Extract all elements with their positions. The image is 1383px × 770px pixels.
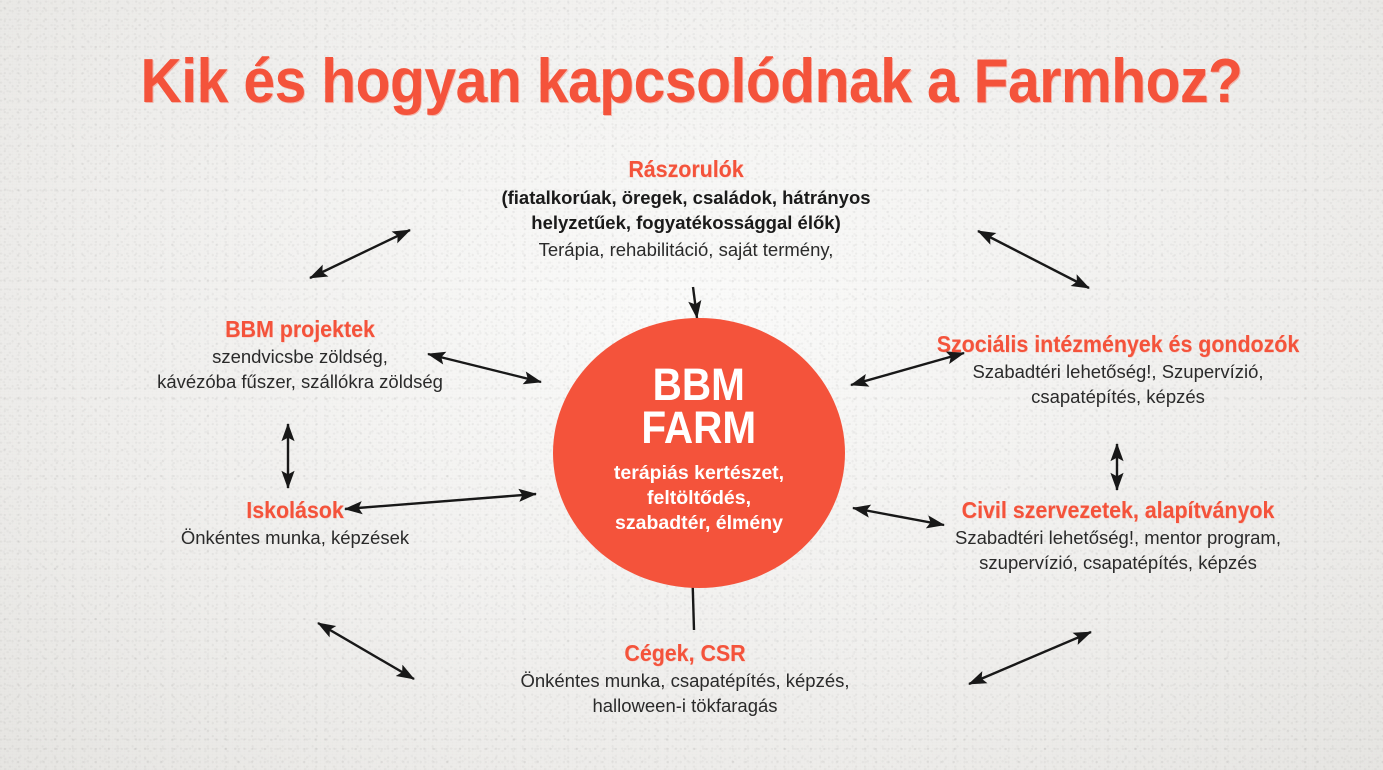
slide-canvas: Kik és hogyan kapcsolódnak a Farmhoz? BB…: [0, 0, 1383, 770]
raszorulok-to-farm: [693, 287, 697, 318]
center-node-description: terápiás kertészet, feltöltődés, szabadt…: [614, 461, 784, 536]
node-civil-szervezetek-heading: Civil szervezetek, alapítványok: [918, 497, 1318, 524]
node-civil-szervezetek-body: Szabadtéri lehetőség!, mentor program, s…: [903, 526, 1333, 576]
page-title: Kik és hogyan kapcsolódnak a Farmhoz?: [55, 46, 1327, 117]
center-node-title: BBM FARM: [642, 364, 757, 450]
bbm-projektek-to-raszorulok: [310, 230, 410, 278]
node-szocialis-intezmenyek-heading: Szociális intézmények és gondozók: [927, 331, 1308, 358]
node-szocialis-intezmenyek-body: Szabadtéri lehetőség!, Szupervízió, csap…: [913, 360, 1323, 410]
node-cegek-csr: Cégek, CSR Önkéntes munka, csapatépítés,…: [455, 640, 915, 719]
node-cegek-csr-heading: Cégek, CSR: [471, 640, 899, 667]
node-raszorulok-strong: (fiatalkorúak, öregek, családok, hátrány…: [421, 186, 951, 236]
node-iskolasok-heading: Iskolások: [132, 497, 458, 524]
node-szocialis-intezmenyek: Szociális intézmények és gondozók Szabad…: [913, 331, 1323, 410]
node-bbm-projektek: BBM projektek szendvicsbe zöldség, kávéz…: [108, 316, 492, 395]
node-raszorulok-heading: Rászorulók: [440, 156, 933, 183]
node-bbm-projektek-body: szendvicsbe zöldség, kávézóba fűszer, sz…: [108, 345, 492, 395]
node-civil-szervezetek: Civil szervezetek, alapítványok Szabadté…: [903, 497, 1333, 576]
center-node-bbm-farm: BBM FARM terápiás kertészet, feltöltődés…: [553, 318, 845, 588]
node-iskolasok: Iskolások Önkéntes munka, képzések: [120, 497, 470, 551]
iskolasok-to-cegek: [318, 623, 414, 679]
node-bbm-projektek-heading: BBM projektek: [121, 316, 478, 343]
cegek-to-civil: [969, 632, 1091, 684]
node-iskolasok-body: Önkéntes munka, képzések: [120, 526, 470, 551]
node-raszorulok-body: Terápia, rehabilitáció, saját termény,: [421, 238, 951, 263]
node-cegek-csr-body: Önkéntes munka, csapatépítés, képzés, ha…: [455, 669, 915, 719]
node-raszorulok: Rászorulók (fiatalkorúak, öregek, család…: [421, 156, 951, 262]
raszorulok-to-szocialis: [978, 231, 1089, 288]
